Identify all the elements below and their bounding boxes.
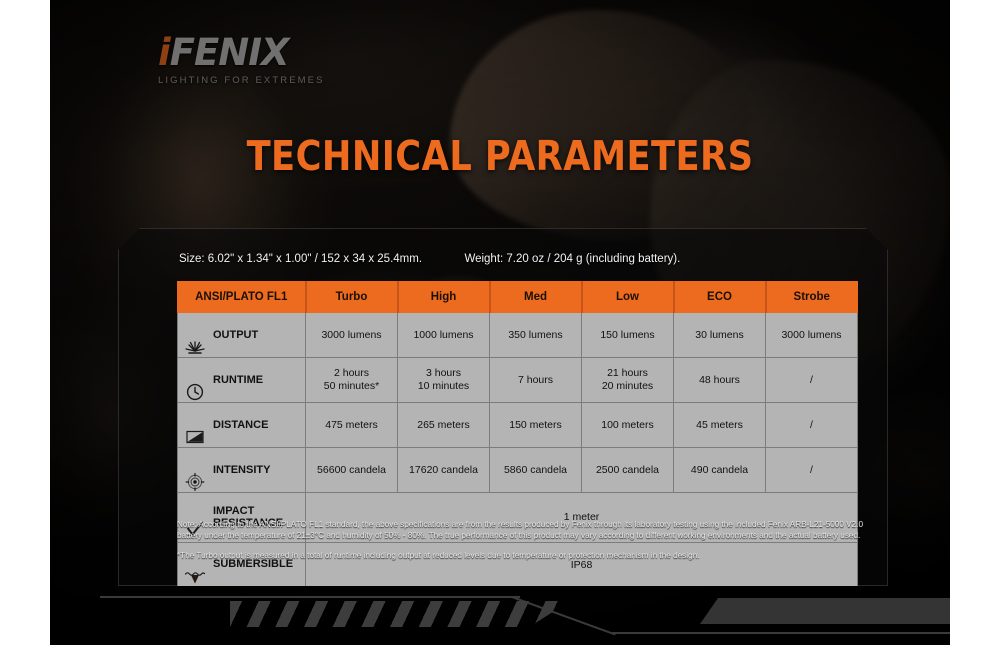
logo-tagline: LIGHTING FOR EXTREMES — [158, 75, 338, 86]
column-header-strobe: Strobe — [766, 282, 858, 313]
specifications-panel-inner: Size: 6.02" x 1.34" x 1.00" / 152 x 34 x… — [119, 229, 887, 585]
page-title: TECHNICAL PARAMETERS — [113, 132, 887, 180]
spec-sheet-page: iFENIX LIGHTING FOR EXTREMES TECHNICAL P… — [0, 0, 1000, 667]
row-header-intensity: INTENSITY — [178, 448, 306, 493]
cell-distance-low: 100 meters — [582, 403, 674, 448]
footnotes: Note: According to the ANSI/PLATO FL1 st… — [177, 519, 867, 561]
cell-runtime-med: 7 hours — [490, 358, 582, 403]
cell-output-strobe: 3000 lumens — [766, 313, 858, 358]
light-burst-icon — [184, 325, 206, 345]
column-header-high: High — [398, 282, 490, 313]
table-header-row: ANSI/PLATO FL1 Turbo High Med Low ECO St… — [178, 282, 858, 313]
cell-output-turbo: 3000 lumens — [306, 313, 398, 358]
column-header-turbo: Turbo — [306, 282, 398, 313]
footnote-ansi-standard: Note: According to the ANSI/PLATO FL1 st… — [177, 519, 867, 542]
deco-line-left — [100, 596, 520, 598]
row-label-output: OUTPUT — [213, 329, 258, 341]
beam-distance-icon — [184, 415, 206, 435]
cell-output-med: 350 lumens — [490, 313, 582, 358]
cell-intensity-eco: 490 candela — [674, 448, 766, 493]
table-row: INTENSITY 56600 candela 17620 candela 58… — [178, 448, 858, 493]
row-label-intensity: INTENSITY — [213, 464, 270, 476]
deco-line-right — [612, 632, 950, 634]
cell-runtime-eco: 48 hours — [674, 358, 766, 403]
logo-i-dot: i — [158, 31, 170, 74]
cell-output-high: 1000 lumens — [398, 313, 490, 358]
column-header-low: Low — [582, 282, 674, 313]
row-header-output: OUTPUT — [178, 313, 306, 358]
column-header-eco: ECO — [674, 282, 766, 313]
cell-output-low: 150 lumens — [582, 313, 674, 358]
cell-intensity-low: 2500 candela — [582, 448, 674, 493]
cell-runtime-high: 3 hours 10 minutes — [398, 358, 490, 403]
hero-banner: iFENIX LIGHTING FOR EXTREMES TECHNICAL P… — [50, 0, 950, 645]
decorative-footer-bar — [100, 588, 950, 626]
table-row: DISTANCE 475 meters 265 meters 150 meter… — [178, 403, 858, 448]
table-row: OUTPUT 3000 lumens 1000 lumens 350 lumen… — [178, 313, 858, 358]
cell-intensity-turbo: 56600 candela — [306, 448, 398, 493]
specifications-panel: Size: 6.02" x 1.34" x 1.00" / 152 x 34 x… — [118, 228, 888, 586]
cell-runtime-low: 21 hours 20 minutes — [582, 358, 674, 403]
row-label-runtime: RUNTIME — [213, 374, 263, 386]
size-text: Size: 6.02" x 1.34" x 1.00" / 152 x 34 x… — [179, 253, 422, 265]
cell-distance-eco: 45 meters — [674, 403, 766, 448]
cell-runtime-strobe: / — [766, 358, 858, 403]
cell-distance-turbo: 475 meters — [306, 403, 398, 448]
logo-word-text: FENIX — [170, 31, 289, 74]
table-row: RUNTIME 2 hours 50 minutes* 3 hours 10 m… — [178, 358, 858, 403]
intensity-target-icon — [184, 460, 206, 480]
deco-hazard-stripes — [230, 601, 570, 627]
cell-runtime-turbo: 2 hours 50 minutes* — [306, 358, 398, 403]
cell-distance-high: 265 meters — [398, 403, 490, 448]
column-header-med: Med — [490, 282, 582, 313]
column-header-ansi: ANSI/PLATO FL1 — [178, 282, 306, 313]
cell-distance-strobe: / — [766, 403, 858, 448]
deco-bar-right — [700, 598, 950, 624]
cell-intensity-high: 17620 candela — [398, 448, 490, 493]
cell-distance-med: 150 meters — [490, 403, 582, 448]
row-header-distance: DISTANCE — [178, 403, 306, 448]
cell-intensity-med: 5860 candela — [490, 448, 582, 493]
fenix-logo: iFENIX LIGHTING FOR EXTREMES — [158, 34, 338, 86]
weight-text: Weight: 7.20 oz / 204 g (including batte… — [464, 253, 680, 265]
row-label-distance: DISTANCE — [213, 419, 268, 431]
row-header-runtime: RUNTIME — [178, 358, 306, 403]
logo-wordmark: iFENIX — [158, 34, 338, 71]
footnote-turbo-output: *The Turbo output is measured in a total… — [177, 550, 867, 561]
size-weight-line: Size: 6.02" x 1.34" x 1.00" / 152 x 34 x… — [179, 253, 680, 265]
clock-icon — [184, 370, 206, 390]
cell-intensity-strobe: / — [766, 448, 858, 493]
cell-output-eco: 30 lumens — [674, 313, 766, 358]
